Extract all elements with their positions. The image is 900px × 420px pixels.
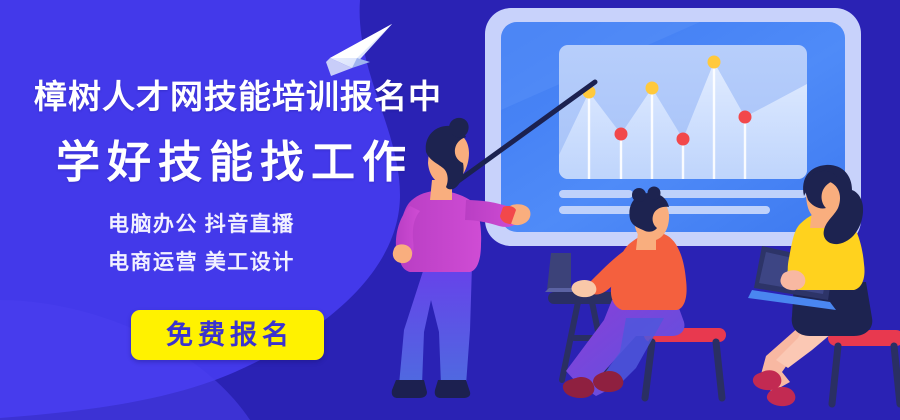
free-signup-button[interactable]: 免费报名 bbox=[131, 310, 324, 360]
promo-banner: 樟树人才网技能培训报名中 学好技能找工作 电脑办公 抖音直播 电商运营 美工设计… bbox=[0, 0, 900, 420]
free-signup-button-label: 免费报名 bbox=[161, 322, 294, 349]
woman-shoes bbox=[753, 370, 795, 406]
woman-chair bbox=[828, 330, 900, 404]
woman-hand bbox=[780, 270, 805, 290]
